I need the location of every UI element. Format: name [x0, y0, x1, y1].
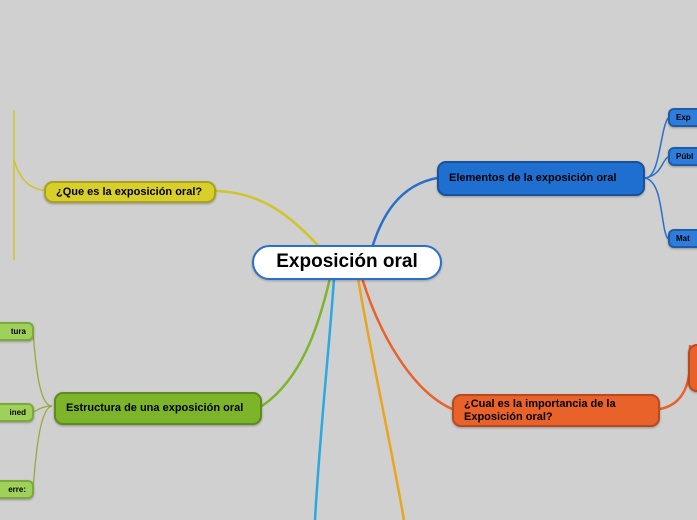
node-expositor-label: Exp: [676, 113, 691, 122]
node-desarrollo-label: ined: [10, 408, 26, 417]
node-estructura[interactable]: Estructura de una exposición oral: [54, 392, 262, 425]
node-desarrollo[interactable]: ined: [0, 403, 34, 422]
node-expositor[interactable]: Exp: [668, 108, 697, 127]
node-materiales[interactable]: Mat: [668, 229, 697, 248]
node-importancia-label: ¿Cual es la importancia de la Exposición…: [464, 398, 648, 424]
node-elementos[interactable]: Elementos de la exposición oral: [437, 161, 645, 196]
node-importancia[interactable]: ¿Cual es la importancia de la Exposición…: [452, 394, 660, 427]
node-cierre-label: erre:: [8, 485, 26, 494]
node-cierre[interactable]: erre:: [0, 480, 34, 499]
node-publico[interactable]: Públ: [668, 147, 697, 166]
node-elementos-label: Elementos de la exposición oral: [449, 172, 617, 185]
node-importancia-child-partial[interactable]: [688, 344, 697, 392]
node-root[interactable]: Exposición oral: [252, 245, 442, 280]
node-root-label: Exposición oral: [276, 251, 417, 273]
node-que-es-label: ¿Que es la exposición oral?: [56, 186, 202, 199]
node-apertura[interactable]: tura: [0, 322, 34, 341]
mindmap-canvas[interactable]: Exposición oral Elementos de la exposici…: [0, 0, 697, 520]
node-que-es[interactable]: ¿Que es la exposición oral?: [44, 181, 216, 203]
node-publico-label: Públ: [676, 152, 693, 161]
node-apertura-label: tura: [11, 327, 26, 336]
node-estructura-label: Estructura de una exposición oral: [66, 402, 243, 415]
node-materiales-label: Mat: [676, 234, 690, 243]
